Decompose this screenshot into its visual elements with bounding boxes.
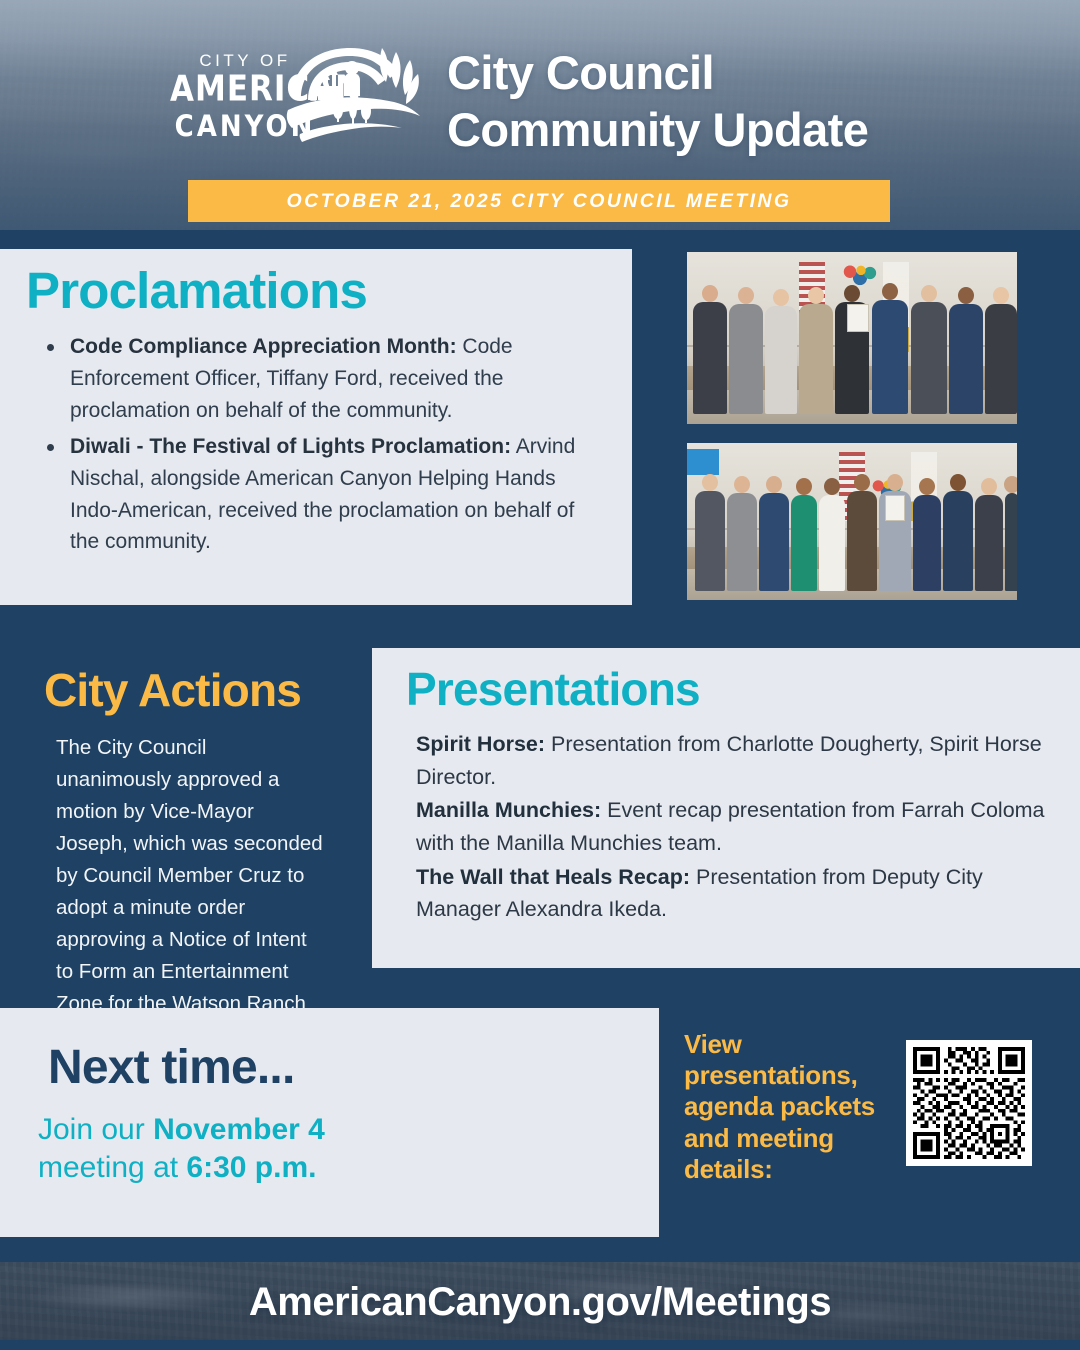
list-item: Code Compliance Appreciation Month: Code… xyxy=(38,331,608,427)
page-title-line-1: City Council xyxy=(447,44,868,101)
next-meeting-date: November 4 xyxy=(153,1113,325,1146)
presentation-lead: Spirit Horse: xyxy=(416,732,545,756)
presentation-lead: The Wall that Heals Recap: xyxy=(416,865,690,889)
council-chamber-backdrop xyxy=(687,252,1017,424)
list-item: Spirit Horse: Presentation from Charlott… xyxy=(416,728,1064,793)
proclamations-section: Proclamations Code Compliance Appreciati… xyxy=(0,249,632,605)
meeting-date-bar: OCTOBER 21, 2025 CITY COUNCIL MEETING xyxy=(188,180,890,222)
footer-website-url[interactable]: AmericanCanyon.gov/Meetings xyxy=(0,1280,1080,1325)
presentations-section: Presentations Spirit Horse: Presentation… xyxy=(372,648,1080,968)
city-logo: CITY OF AMERICAN CANYON xyxy=(160,38,440,150)
city-actions-body: The City Council unanimously approved a … xyxy=(56,732,324,1052)
qr-code[interactable] xyxy=(906,1040,1032,1166)
qr-code-icon xyxy=(913,1047,1025,1159)
next-meeting-mid: meeting at xyxy=(38,1151,186,1184)
city-actions-heading: City Actions xyxy=(44,663,301,717)
presentation-lead: Manilla Munchies: xyxy=(416,798,601,822)
list-item: Manilla Munchies: Event recap presentati… xyxy=(416,794,1064,859)
list-item: Diwali - The Festival of Lights Proclama… xyxy=(38,431,608,559)
presentations-heading: Presentations xyxy=(406,662,700,716)
community-update-flyer: CITY OF AMERICAN CANYON xyxy=(0,0,1080,1350)
footer-bottom-strip xyxy=(0,1340,1080,1350)
council-chamber-backdrop xyxy=(687,443,1017,600)
code-compliance-proclamation-photo xyxy=(684,249,1020,427)
qr-call-to-action-text: View presentations, agenda packets and m… xyxy=(684,1029,899,1185)
presentations-list: Spirit Horse: Presentation from Charlott… xyxy=(416,728,1064,927)
list-item: The Wall that Heals Recap: Presentation … xyxy=(416,861,1064,926)
american-canyon-emblem-icon xyxy=(278,38,430,155)
page-title-line-2: Community Update xyxy=(447,101,868,158)
meeting-date-text: OCTOBER 21, 2025 CITY COUNCIL MEETING xyxy=(287,190,792,213)
next-meeting-prefix: Join our xyxy=(38,1113,153,1146)
next-meeting-time: 6:30 p.m. xyxy=(186,1151,316,1184)
proclamation-lead: Code Compliance Appreciation Month: xyxy=(70,335,457,358)
proclamation-lead: Diwali - The Festival of Lights Proclama… xyxy=(70,435,511,458)
header-banner: CITY OF AMERICAN CANYON xyxy=(0,0,1080,230)
page-title: City Council Community Update xyxy=(447,44,868,159)
proclamations-heading: Proclamations xyxy=(26,261,367,320)
next-meeting-details: Join our November 4 meeting at 6:30 p.m. xyxy=(38,1111,438,1188)
proclamations-list: Code Compliance Appreciation Month: Code… xyxy=(38,331,608,562)
next-time-section: Next time... Join our November 4 meeting… xyxy=(0,1008,659,1237)
footer-banner: AmericanCanyon.gov/Meetings xyxy=(0,1262,1080,1350)
next-time-heading: Next time... xyxy=(48,1040,294,1095)
diwali-proclamation-photo xyxy=(684,440,1020,603)
